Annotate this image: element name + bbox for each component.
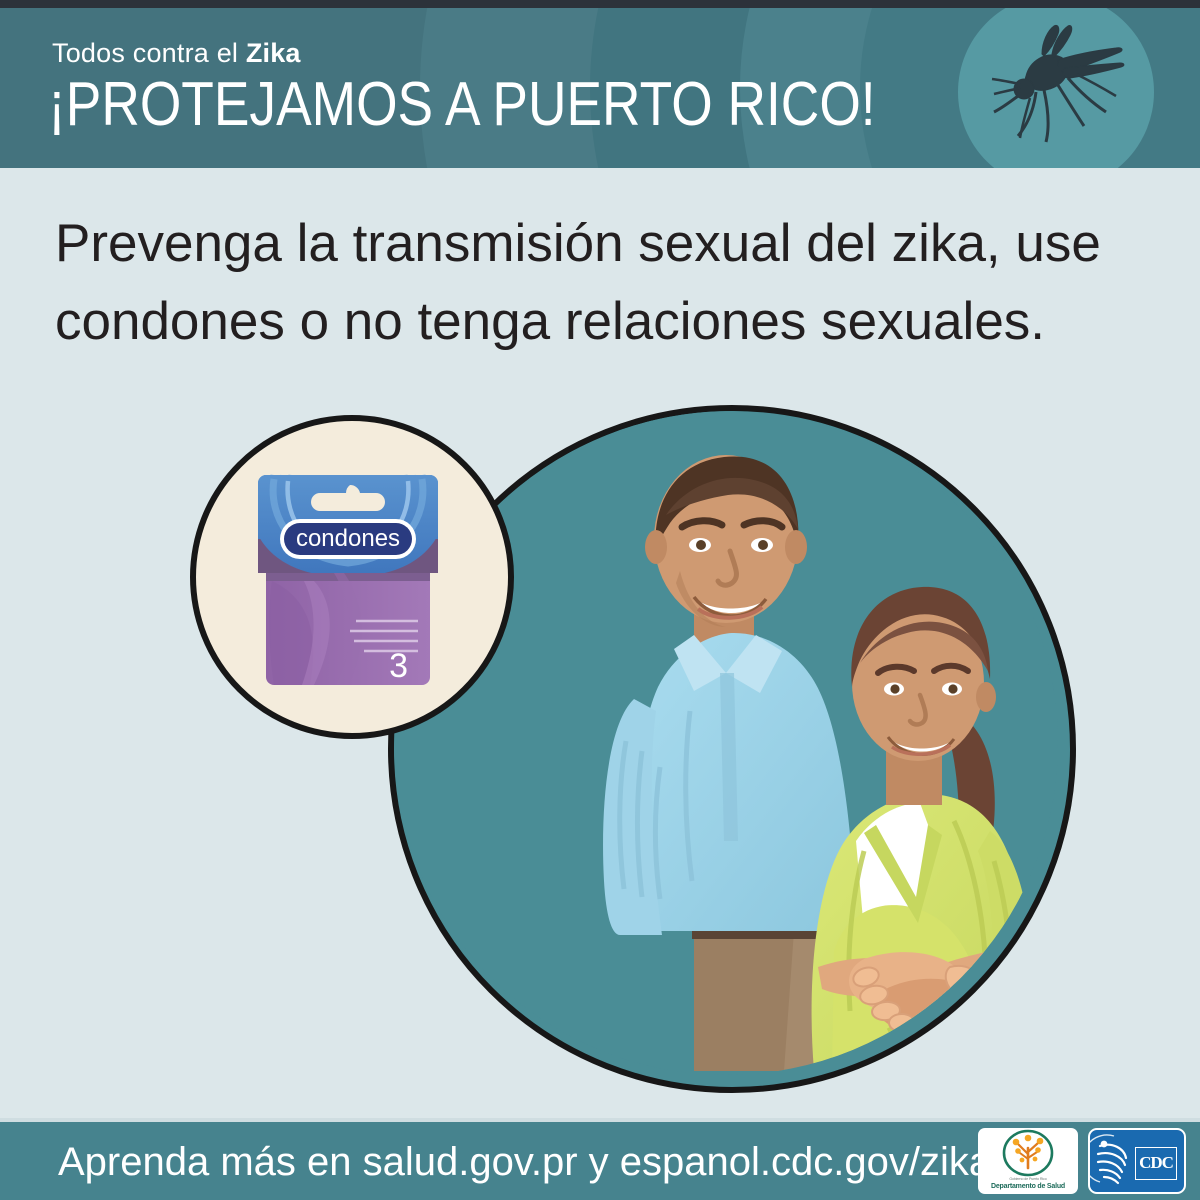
mosquito-icon (980, 16, 1130, 166)
page-title: ¡PROTEJAMOS A PUERTO RICO! (48, 74, 876, 136)
top-accent-strip (0, 0, 1200, 8)
condom-box-label: condones (296, 525, 400, 552)
cdc-wordmark-box: CDC (1135, 1147, 1177, 1180)
condom-box: condones 3 (258, 469, 438, 691)
cdc-wordmark: CDC (1136, 1153, 1176, 1173)
pr-tree-emblem (978, 1128, 1078, 1180)
header-kicker-prefix: Todos contra el (52, 38, 246, 68)
condom-box-callout: condones 3 (190, 415, 514, 739)
pr-logo-supra: Gobierno de Puerto Rico (978, 1177, 1078, 1181)
header-banner: Todos contra el Zika ¡PROTEJAMOS A PUERT… (0, 8, 1200, 168)
footer-link-text[interactable]: Aprenda más en salud.gov.pr y espanol.cd… (58, 1140, 991, 1185)
pr-logo-caption: Departamento de Salud (978, 1183, 1078, 1190)
hhs-eagle-icon (1090, 1130, 1138, 1192)
pr-health-department-logo: Gobierno de Puerto Rico Departamento de … (978, 1128, 1078, 1194)
cdc-hhs-logo: CDC (1088, 1128, 1186, 1194)
illustration-stage: condones 3 (0, 390, 1200, 1110)
condom-box-art: condones 3 (258, 469, 438, 691)
header-kicker-brand: Zika (246, 38, 301, 68)
condom-box-count: 3 (389, 647, 408, 685)
main-message: Prevenga la transmisión sexual del zika,… (55, 205, 1145, 361)
header-kicker: Todos contra el Zika (52, 38, 301, 69)
